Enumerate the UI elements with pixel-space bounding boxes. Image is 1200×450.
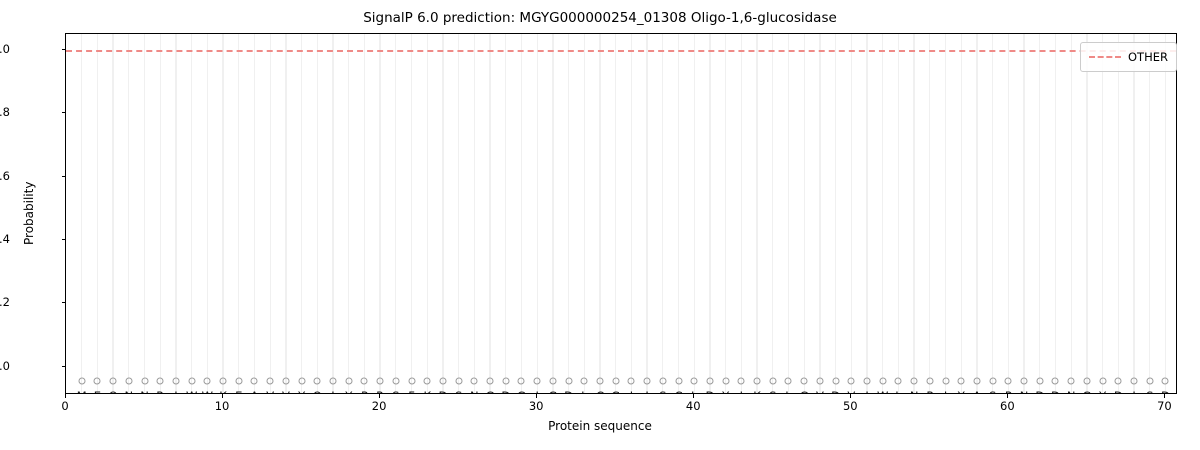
residue-letter: K	[753, 389, 761, 394]
x-tick-label: 20	[372, 399, 387, 413]
residue-letter: W	[186, 389, 197, 394]
residue-letter: E	[94, 389, 101, 394]
residue-letter: Q	[313, 389, 322, 394]
gridline-vertical	[1086, 34, 1087, 393]
y-axis-label: Probability	[22, 182, 36, 245]
gridline-vertical	[175, 34, 176, 393]
gridline-vertical	[128, 34, 129, 393]
gridline-vertical	[584, 34, 585, 393]
legend-swatch-other	[1089, 56, 1121, 58]
residue-letter: L	[691, 389, 697, 394]
legend-label-other: OTHER	[1128, 50, 1168, 64]
gridline-vertical	[442, 34, 443, 393]
residue-letter: D	[831, 389, 840, 394]
residue-marker	[377, 377, 384, 384]
residue-marker	[722, 377, 729, 384]
residue-letter: A	[973, 389, 981, 394]
residue-marker	[235, 377, 242, 384]
residue-letter: N	[140, 389, 149, 394]
residue-letter: S	[769, 389, 776, 394]
gridline-vertical	[945, 34, 946, 393]
residue-marker	[895, 377, 902, 384]
gridline-vertical	[694, 34, 695, 393]
residue-letter: S	[989, 389, 996, 394]
residue-marker	[361, 377, 368, 384]
residue-letter: G	[517, 389, 526, 394]
residue-marker	[549, 377, 556, 384]
residue-letter: P	[1005, 389, 1012, 394]
signalp-prediction-figure: SignalP 6.0 prediction: MGYG000000254_01…	[0, 0, 1200, 450]
residue-letter: I	[865, 389, 868, 394]
gridline-vertical	[317, 34, 318, 393]
gridline-vertical	[615, 34, 616, 393]
x-axis-label: Protein sequence	[0, 419, 1200, 433]
residue-marker	[581, 377, 588, 384]
residue-marker	[942, 377, 949, 384]
residue-marker	[864, 377, 871, 384]
residue-marker	[110, 377, 117, 384]
gridline-vertical	[395, 34, 396, 393]
y-tick-label: 0.0	[0, 359, 10, 373]
gridline-vertical	[332, 34, 333, 393]
residue-letter: S	[659, 389, 666, 394]
residue-letter: K	[423, 389, 431, 394]
residue-marker	[565, 377, 572, 384]
residue-marker	[628, 377, 635, 384]
gridline-vertical	[568, 34, 569, 393]
gridline-vertical	[427, 34, 428, 393]
residue-letter: V	[266, 389, 274, 394]
residue-marker	[471, 377, 478, 384]
gridline-vertical	[112, 34, 113, 393]
residue-marker	[612, 377, 619, 384]
residue-letter: V	[816, 389, 824, 394]
residue-marker	[958, 377, 965, 384]
y-tick-label: 0.2	[0, 295, 10, 309]
gridline-vertical	[851, 34, 852, 393]
gridline-vertical	[1133, 34, 1134, 393]
gridline-vertical	[929, 34, 930, 393]
x-tick-mark	[222, 394, 223, 398]
residue-marker	[1131, 377, 1138, 384]
residue-marker	[424, 377, 431, 384]
residue-letter: D	[706, 389, 715, 394]
gridline-vertical	[1118, 34, 1119, 393]
gridline-vertical	[474, 34, 475, 393]
residue-letter: G	[800, 389, 809, 394]
gridline-vertical	[788, 34, 789, 393]
x-tick-mark	[65, 394, 66, 398]
residue-marker	[1036, 377, 1043, 384]
gridline-vertical	[1039, 34, 1040, 393]
y-tick-label: 0.4	[0, 232, 10, 246]
residue-marker	[1021, 377, 1028, 384]
residue-letter: G	[486, 389, 495, 394]
gridline-vertical	[285, 34, 286, 393]
residue-letter: N	[1067, 389, 1076, 394]
residue-letter: F	[408, 389, 415, 394]
residue-marker	[1052, 377, 1059, 384]
gridline-vertical	[1055, 34, 1056, 393]
gridline-vertical	[913, 34, 914, 393]
residue-marker	[754, 377, 761, 384]
residue-marker	[141, 377, 148, 384]
x-tick-mark	[536, 394, 537, 398]
residue-marker	[816, 377, 823, 384]
residue-marker	[706, 377, 713, 384]
residue-letter: N	[1020, 389, 1029, 394]
gridline-vertical	[1023, 34, 1024, 393]
residue-letter: W	[877, 389, 888, 394]
residue-marker	[345, 377, 352, 384]
gridline-vertical	[772, 34, 773, 393]
residue-letter: V	[282, 389, 290, 394]
residue-marker	[220, 377, 227, 384]
gridline-vertical	[819, 34, 820, 393]
x-tick-label: 50	[843, 399, 858, 413]
x-tick-mark	[1164, 394, 1165, 398]
gridline-vertical	[191, 34, 192, 393]
legend[interactable]: OTHER	[1080, 42, 1177, 72]
residue-letter: I	[331, 389, 334, 394]
gridline-vertical	[662, 34, 663, 393]
gridline-vertical	[631, 34, 632, 393]
residue-letter: I	[174, 389, 177, 394]
gridline-vertical	[97, 34, 98, 393]
residue-letter: W	[202, 389, 213, 394]
gridline-vertical	[756, 34, 757, 393]
residue-letter: M	[77, 389, 87, 394]
gridline-vertical	[1071, 34, 1072, 393]
residue-marker	[644, 377, 651, 384]
residue-marker	[1005, 377, 1012, 384]
residue-marker	[534, 377, 541, 384]
residue-marker	[267, 377, 274, 384]
x-tick-mark	[850, 394, 851, 398]
gridline-vertical	[1149, 34, 1150, 393]
residue-marker	[926, 377, 933, 384]
gridline-vertical	[364, 34, 365, 393]
residue-letter: K	[219, 389, 227, 394]
residue-letter: P	[926, 389, 933, 394]
residue-marker	[282, 377, 289, 384]
residue-marker	[973, 377, 980, 384]
residue-letter: D	[1035, 389, 1044, 394]
residue-letter: Y	[345, 389, 352, 394]
gridline-vertical	[81, 34, 82, 393]
residue-letter: Y	[298, 389, 305, 394]
gridline-vertical	[489, 34, 490, 393]
gridline-vertical	[1102, 34, 1103, 393]
residue-marker	[188, 377, 195, 384]
gridline-vertical	[741, 34, 742, 393]
gridline-vertical	[254, 34, 255, 393]
residue-letter: D	[501, 389, 510, 394]
residue-letter: I	[944, 389, 947, 394]
residue-marker	[911, 377, 918, 384]
gridline-vertical	[521, 34, 522, 393]
gridline-vertical	[961, 34, 962, 393]
x-tick-mark	[379, 394, 380, 398]
gridline-vertical	[222, 34, 223, 393]
gridline-vertical	[505, 34, 506, 393]
residue-marker	[769, 377, 776, 384]
gridline-vertical	[709, 34, 710, 393]
residue-marker	[1099, 377, 1106, 384]
residue-letter: N	[910, 389, 919, 394]
residue-letter: A	[251, 389, 259, 394]
residue-letter: L	[895, 389, 901, 394]
residue-marker	[172, 377, 179, 384]
residue-letter: C	[596, 389, 604, 394]
residue-marker	[487, 377, 494, 384]
residue-marker	[1068, 377, 1075, 384]
gridline-vertical	[1008, 34, 1009, 393]
x-tick-label: 40	[686, 399, 701, 413]
residue-letter: S	[1146, 389, 1153, 394]
residue-letter: S	[392, 389, 399, 394]
residue-letter: D	[1161, 389, 1170, 394]
gridline-vertical	[458, 34, 459, 393]
residue-letter: Y	[722, 389, 729, 394]
residue-letter: V	[847, 389, 855, 394]
gridline-vertical	[646, 34, 647, 393]
residue-letter: Y	[1099, 389, 1106, 394]
residue-letter: I	[740, 389, 743, 394]
residue-marker	[518, 377, 525, 384]
gridline-vertical	[835, 34, 836, 393]
residue-marker	[879, 377, 886, 384]
gridline-vertical	[804, 34, 805, 393]
gridline-vertical	[160, 34, 161, 393]
gridline-vertical	[238, 34, 239, 393]
x-tick-label: 10	[215, 399, 230, 413]
gridline-vertical	[379, 34, 380, 393]
residue-letter: D	[1114, 389, 1123, 394]
chart-title: SignalP 6.0 prediction: MGYG000000254_01…	[0, 10, 1200, 26]
gridline-vertical	[678, 34, 679, 393]
residue-letter: D	[439, 389, 448, 394]
residue-marker	[157, 377, 164, 384]
residue-marker	[94, 377, 101, 384]
gridline-vertical	[1165, 34, 1166, 393]
residue-marker	[330, 377, 337, 384]
residue-marker	[392, 377, 399, 384]
residue-letter: I	[645, 389, 648, 394]
residue-marker	[597, 377, 604, 384]
residue-letter: D	[1051, 389, 1060, 394]
residue-marker	[691, 377, 698, 384]
x-tick-label: 60	[1000, 399, 1015, 413]
x-tick-mark	[693, 394, 694, 398]
residue-letter: Y	[958, 389, 965, 394]
residue-letter: E	[235, 389, 242, 394]
gridline-vertical	[537, 34, 538, 393]
residue-letter: G	[548, 389, 557, 394]
gridline-vertical	[411, 34, 412, 393]
residue-letter: C	[675, 389, 683, 394]
residue-letter: N	[470, 389, 479, 394]
residue-marker	[251, 377, 258, 384]
x-tick-label: 30	[529, 399, 544, 413]
residue-marker	[832, 377, 839, 384]
residue-letter: N	[125, 389, 134, 394]
x-tick-label: 70	[1157, 399, 1172, 413]
residue-letter: L	[785, 389, 791, 394]
residue-letter: G	[1082, 389, 1091, 394]
residue-letter: S	[455, 389, 462, 394]
residue-letter: L	[581, 389, 587, 394]
residue-marker	[78, 377, 85, 384]
residue-letter: D	[564, 389, 573, 394]
residue-marker	[298, 377, 305, 384]
series-line-other	[66, 50, 1176, 52]
y-tick-label: 0.6	[0, 169, 10, 183]
residue-marker	[314, 377, 321, 384]
residue-marker	[675, 377, 682, 384]
gridline-vertical	[552, 34, 553, 393]
gridline-vertical	[599, 34, 600, 393]
residue-marker	[659, 377, 666, 384]
gridline-vertical	[144, 34, 145, 393]
residue-marker	[204, 377, 211, 384]
residue-marker	[1146, 377, 1153, 384]
residue-letter: G	[611, 389, 620, 394]
residue-marker	[1162, 377, 1169, 384]
gridline-vertical	[992, 34, 993, 393]
x-tick-label: 0	[61, 399, 68, 413]
residue-marker	[439, 377, 446, 384]
residue-marker	[125, 377, 132, 384]
x-tick-mark	[1007, 394, 1008, 398]
residue-marker	[1083, 377, 1090, 384]
residue-marker	[1115, 377, 1122, 384]
y-tick-label: 0.8	[0, 105, 10, 119]
residue-letter: R	[156, 389, 164, 394]
residue-marker	[801, 377, 808, 384]
gridline-vertical	[725, 34, 726, 393]
residue-letter: I	[1132, 389, 1135, 394]
gridline-vertical	[866, 34, 867, 393]
residue-marker	[989, 377, 996, 384]
gridline-vertical	[976, 34, 977, 393]
gridline-vertical	[898, 34, 899, 393]
residue-letter: Q	[109, 389, 118, 394]
gridline-vertical	[270, 34, 271, 393]
residue-marker	[455, 377, 462, 384]
gridline-vertical	[882, 34, 883, 393]
plot-area: MEQNNRIWWKEAVVYQIYPRSFKDSNGDGIGDLCGIISCL…	[65, 33, 1177, 394]
residue-letter: P	[361, 389, 368, 394]
y-tick-label: 1.0	[0, 42, 10, 56]
gridline-vertical	[348, 34, 349, 393]
residue-marker	[502, 377, 509, 384]
residue-letter: R	[376, 389, 384, 394]
residue-marker	[785, 377, 792, 384]
residue-marker	[408, 377, 415, 384]
residue-marker	[848, 377, 855, 384]
gridline-vertical	[207, 34, 208, 393]
residue-marker	[738, 377, 745, 384]
gridline-vertical	[301, 34, 302, 393]
residue-letter: I	[630, 389, 633, 394]
